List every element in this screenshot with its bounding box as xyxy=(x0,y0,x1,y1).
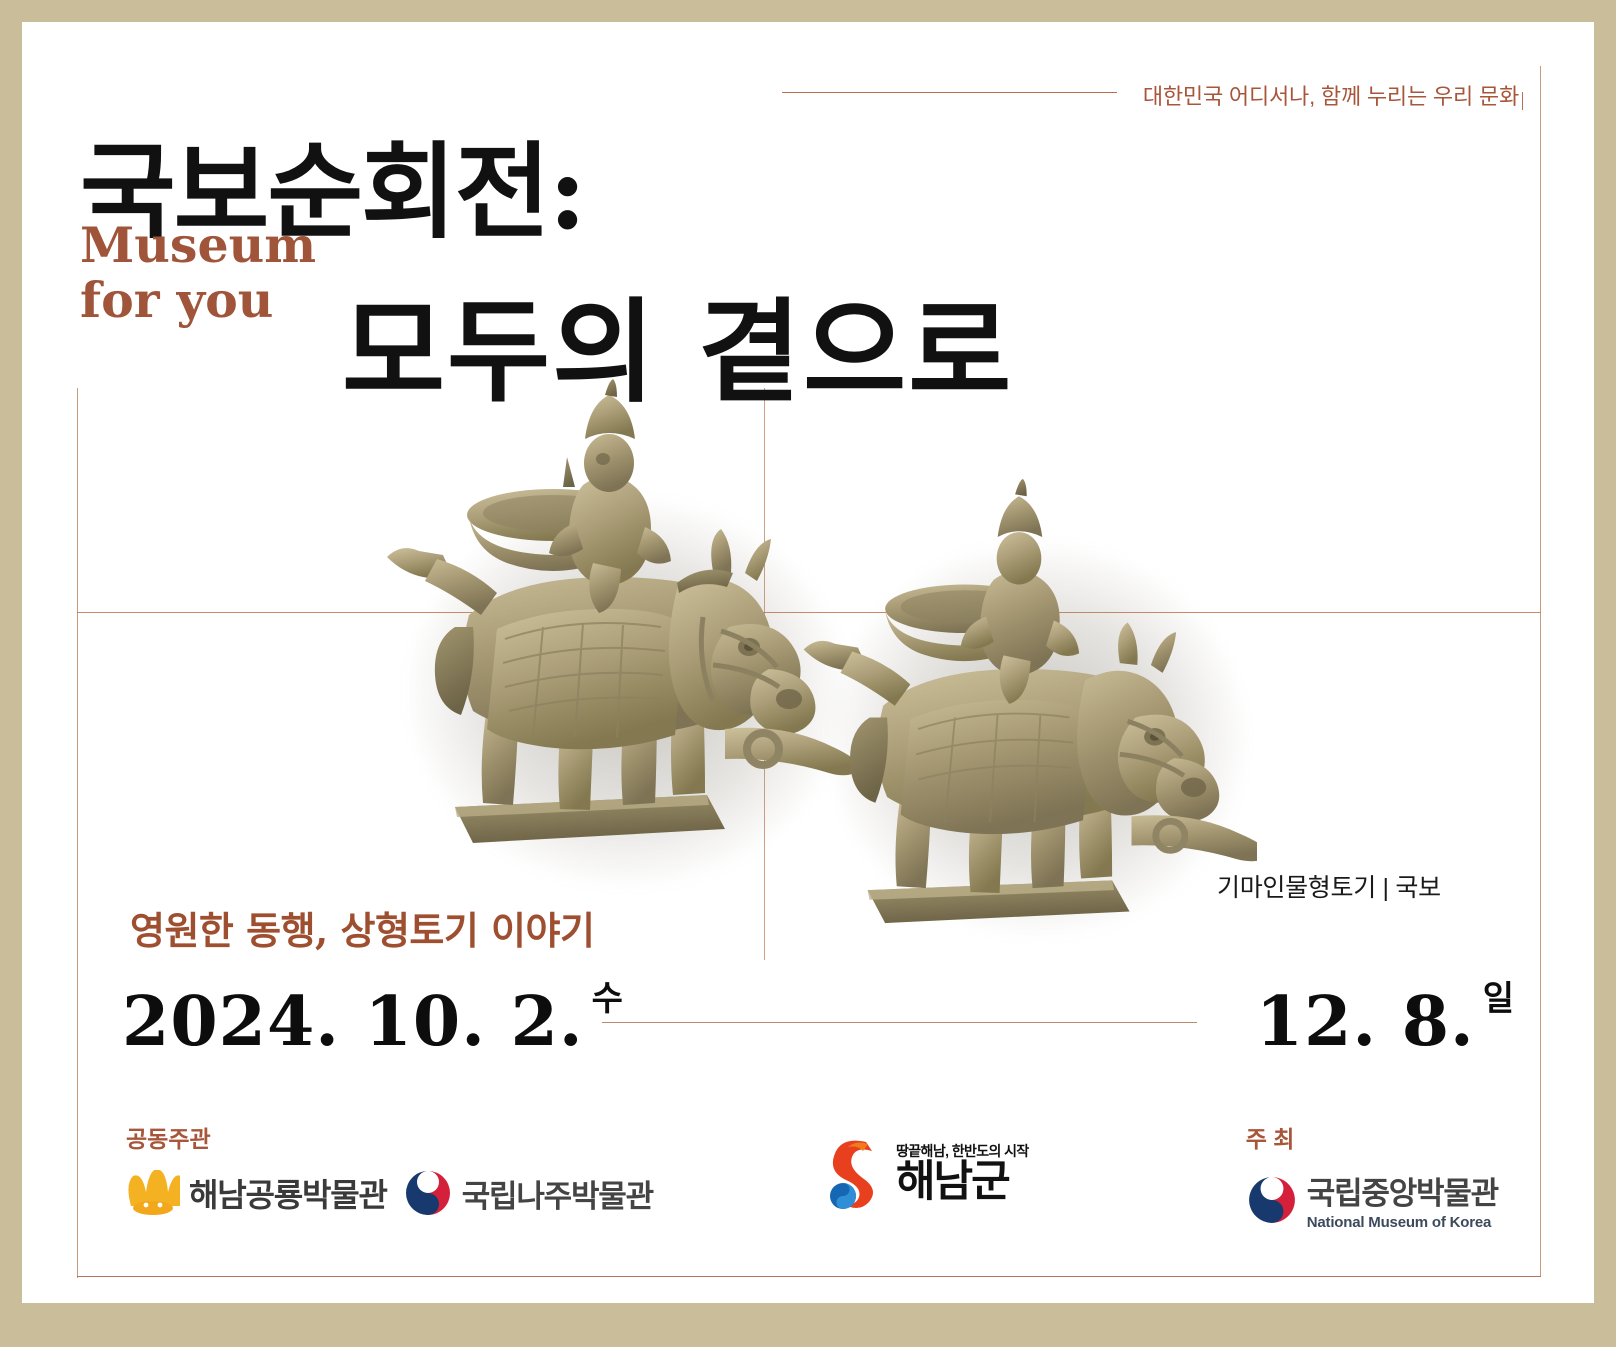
supporter-text-stack: 땅끝해남, 한반도의 시작 해남군 xyxy=(896,1141,1029,1203)
tagline-leader-rule xyxy=(782,92,1117,93)
cohost-logo-row: 해남공룡박물관 국립나주박물관 xyxy=(126,1168,653,1218)
artifact-photo-group xyxy=(377,377,1257,937)
host-label: 주 최 xyxy=(1246,1120,1498,1154)
crown-icon xyxy=(126,1170,180,1216)
host-section: 주 최 국립중앙박물관 National Museum of Korea xyxy=(1246,1120,1498,1231)
host-org-name: 국립중앙박물관 xyxy=(1307,1168,1498,1213)
exhibition-poster: 대한민국 어디서나, 함께 누리는 우리 문화 국보순회전: Museum fo… xyxy=(0,0,1616,1347)
supporter-name: 해남군 xyxy=(896,1162,1029,1203)
artifact-caption: 기마인물형토기 | 국보 xyxy=(1217,868,1441,904)
taegeuk-icon xyxy=(403,1168,453,1218)
haenam-swirl-icon xyxy=(822,1134,886,1210)
cohost-org-naju-museum: 국립나주박물관 xyxy=(403,1168,653,1218)
supporter-haenam-county: 땅끝해남, 한반도의 시작 해남군 xyxy=(822,1134,1029,1210)
cohost-org-haenam-dinosaur: 해남공룡박물관 xyxy=(126,1170,387,1216)
exhibition-subtitle: 영원한 동행, 상형토기 이야기 xyxy=(130,900,594,955)
host-org-name-english: National Museum of Korea xyxy=(1307,1214,1498,1231)
page-title-english: Museum for you xyxy=(80,218,316,328)
host-logo-row: 국립중앙박물관 National Museum of Korea xyxy=(1246,1168,1498,1231)
date-connector-rule xyxy=(602,1022,1197,1023)
end-date-weekday: 일 xyxy=(1483,982,1514,1016)
start-date: 2024. 10. 2. 수 xyxy=(122,988,623,1056)
right-vertical-rule xyxy=(1540,66,1541,1276)
poster-canvas: 대한민국 어디서나, 함께 누리는 우리 문화 국보순회전: Museum fo… xyxy=(22,22,1594,1303)
end-date: 12. 8. 일 xyxy=(1256,988,1514,1056)
cohost-section: 공동주관 해남공룡박물관 국립나주박물관 xyxy=(126,1120,653,1218)
end-date-value: 12. 8. xyxy=(1256,988,1475,1056)
mounted-warrior-earthenware-illustration xyxy=(377,377,1257,937)
start-date-weekday: 수 xyxy=(592,982,623,1016)
host-org-text-stack: 국립중앙박물관 National Museum of Korea xyxy=(1307,1168,1498,1231)
host-org-national-museum: 국립중앙박물관 National Museum of Korea xyxy=(1246,1168,1498,1231)
cohost-org-name: 국립나주박물관 xyxy=(462,1171,653,1216)
bottom-horizontal-rule xyxy=(77,1276,1541,1277)
campaign-tagline: 대한민국 어디서나, 함께 누리는 우리 문화 xyxy=(1143,79,1519,111)
cohost-org-name: 해남공룡박물관 xyxy=(189,1170,387,1216)
start-date-value: 2024. 10. 2. xyxy=(122,988,584,1056)
taegeuk-icon xyxy=(1246,1174,1298,1226)
tagline-end-tick xyxy=(1522,92,1523,110)
left-vertical-rule xyxy=(77,388,78,1278)
cohost-label: 공동주관 xyxy=(126,1120,653,1154)
